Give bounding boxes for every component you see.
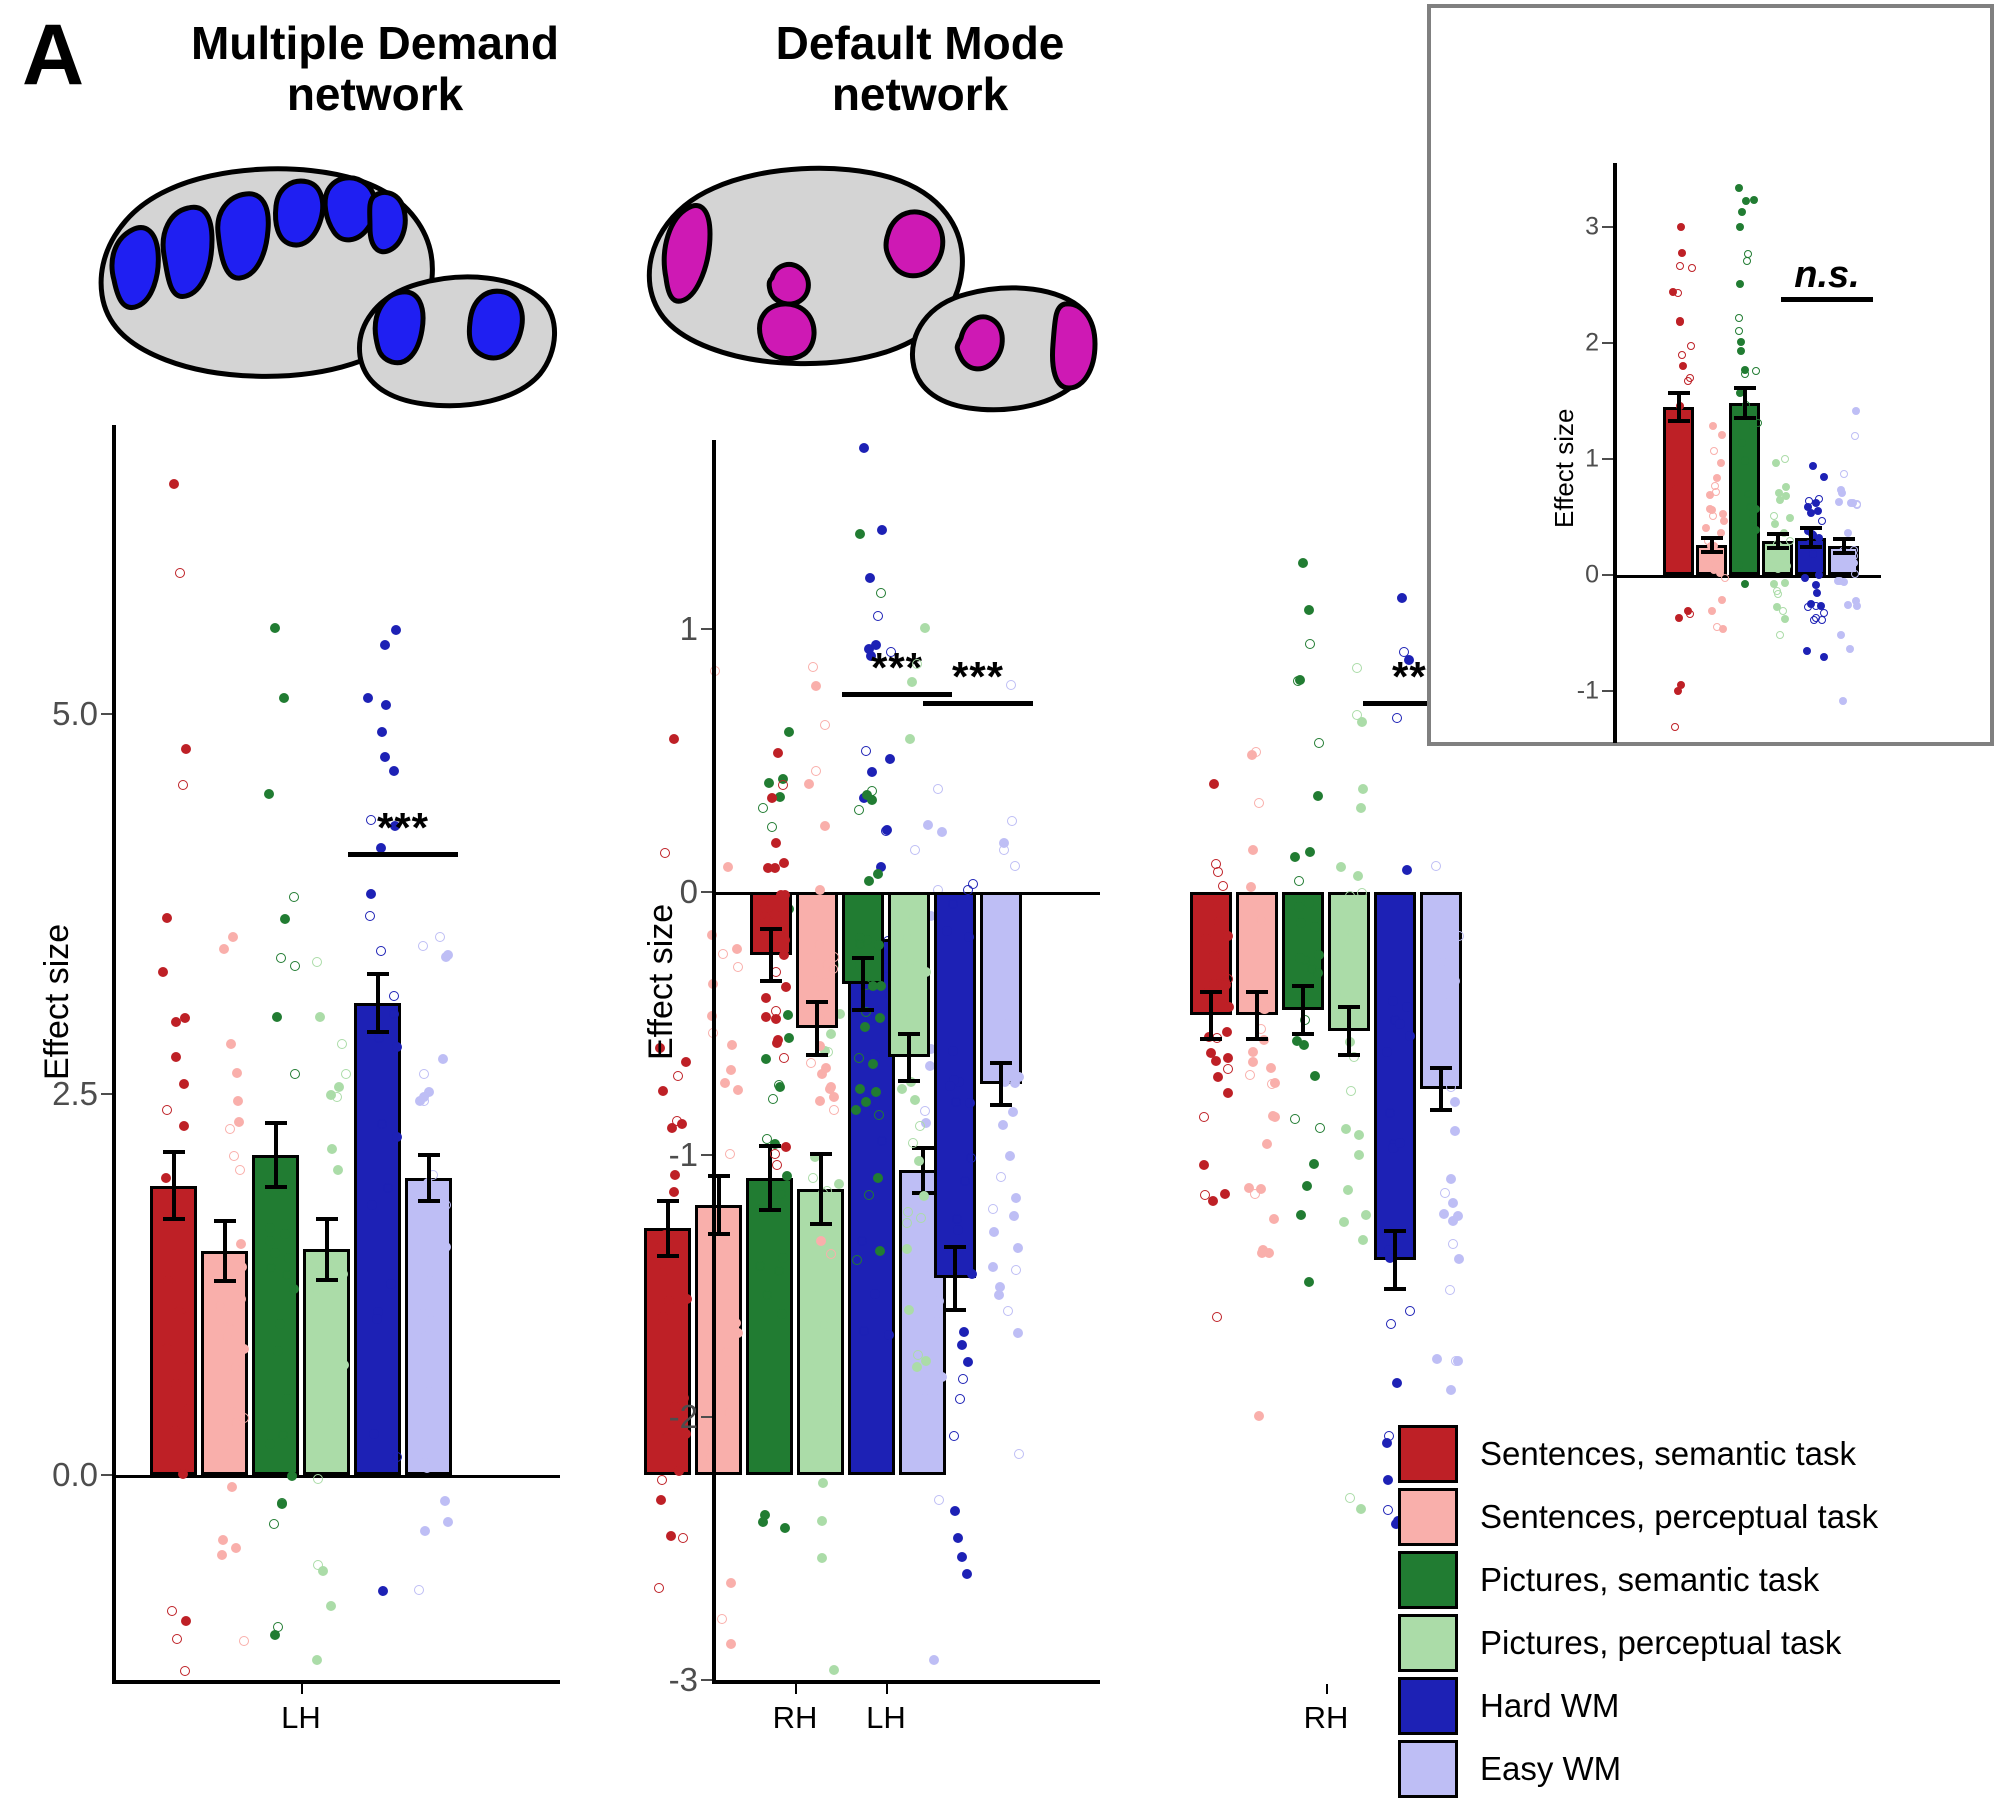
data-point xyxy=(1200,1190,1210,1200)
data-point xyxy=(332,1092,342,1102)
data-point xyxy=(1392,1378,1402,1388)
error-bar-cap xyxy=(760,979,782,983)
error-bar-cap xyxy=(944,1245,966,1249)
data-point xyxy=(290,1069,300,1079)
error-bar-cap xyxy=(1833,551,1855,555)
data-point xyxy=(855,1084,865,1094)
error-bar xyxy=(376,974,380,1032)
data-point xyxy=(1454,1254,1464,1264)
data-point xyxy=(170,1426,180,1436)
data-point xyxy=(389,1009,399,1019)
data-point xyxy=(1719,625,1727,633)
data-point xyxy=(418,941,428,951)
data-point xyxy=(219,944,229,954)
data-point xyxy=(369,1429,379,1439)
legend-item[interactable]: Sentences, semantic task xyxy=(1398,1422,1878,1485)
data-point xyxy=(1270,1078,1280,1088)
legend-item[interactable]: Easy WM xyxy=(1398,1737,1878,1800)
data-point xyxy=(1011,1265,1021,1275)
data-point xyxy=(1681,448,1689,456)
data-point xyxy=(861,1097,871,1107)
data-point xyxy=(1382,1047,1392,1057)
error-bar-cap xyxy=(990,1103,1012,1107)
legend-item-label: Sentences, semantic task xyxy=(1480,1435,1856,1473)
significance-annotation: n.s. xyxy=(1717,256,1937,302)
data-point xyxy=(389,991,399,1001)
data-point xyxy=(1395,1138,1405,1148)
data-point xyxy=(1770,512,1778,520)
error-bar-cap xyxy=(1430,1066,1452,1070)
data-point xyxy=(1844,601,1852,609)
x-tick-mark xyxy=(886,1684,888,1694)
data-point xyxy=(1446,1385,1456,1395)
data-point xyxy=(1677,223,1685,231)
significance-bracket xyxy=(923,701,1033,706)
data-point xyxy=(1851,570,1859,578)
legend-color-swatch xyxy=(1398,1677,1458,1735)
data-point xyxy=(815,885,825,895)
data-point xyxy=(1383,1475,1393,1485)
error-bar-cap xyxy=(214,1279,236,1283)
data-point xyxy=(771,1014,781,1024)
data-point xyxy=(1248,1047,1258,1057)
data-point xyxy=(1209,779,1219,789)
data-point xyxy=(1340,949,1350,959)
data-point xyxy=(1008,1107,1018,1117)
data-point xyxy=(867,795,877,805)
data-point xyxy=(1354,1130,1364,1140)
data-point xyxy=(912,1362,922,1372)
data-point xyxy=(273,1346,283,1356)
data-point xyxy=(1677,681,1685,689)
data-point xyxy=(234,1117,244,1127)
data-point xyxy=(868,1059,878,1069)
error-bar xyxy=(427,1155,431,1201)
data-point xyxy=(333,1165,343,1175)
data-point xyxy=(225,1124,235,1134)
data-point xyxy=(334,1082,344,1092)
data-point xyxy=(1809,462,1817,470)
data-point xyxy=(1718,431,1726,439)
legend-item-label: Hard WM xyxy=(1480,1687,1619,1725)
data-point xyxy=(1840,470,1848,478)
data-point xyxy=(1199,1160,1209,1170)
data-point xyxy=(270,623,280,633)
data-point xyxy=(1781,615,1789,623)
data-point xyxy=(232,1068,242,1078)
error-bar xyxy=(1393,1231,1397,1289)
y-tick-mark xyxy=(101,1474,112,1476)
data-point xyxy=(366,889,376,899)
data-point xyxy=(955,1394,965,1404)
y-tick-mark xyxy=(701,1154,712,1156)
data-point xyxy=(1774,590,1782,598)
data-point xyxy=(1218,881,1228,891)
data-point xyxy=(264,789,274,799)
error-bar-cap xyxy=(1800,545,1822,549)
data-point xyxy=(811,766,821,776)
legend-item-label: Sentences, perceptual task xyxy=(1480,1498,1878,1536)
error-bar-cap xyxy=(898,1079,920,1083)
data-point xyxy=(275,1319,285,1329)
error-bar-cap xyxy=(806,1053,828,1057)
data-point xyxy=(854,805,864,815)
data-point xyxy=(1444,895,1454,905)
data-point xyxy=(1290,852,1300,862)
data-point xyxy=(414,1355,424,1365)
data-point xyxy=(1742,197,1750,205)
data-point xyxy=(391,625,401,635)
data-point xyxy=(1844,529,1852,537)
data-point xyxy=(438,1054,448,1064)
data-point xyxy=(1223,1064,1233,1074)
data-point xyxy=(820,720,830,730)
data-point xyxy=(181,1616,191,1626)
data-point xyxy=(233,1096,243,1106)
data-point xyxy=(781,1142,791,1152)
data-point xyxy=(897,1010,907,1020)
data-point xyxy=(265,1439,275,1449)
data-point xyxy=(1702,524,1710,532)
error-bar-cap xyxy=(1384,1287,1406,1291)
data-point xyxy=(1262,1139,1272,1149)
data-point xyxy=(162,913,172,923)
data-point xyxy=(1814,507,1822,515)
data-point xyxy=(1310,1071,1320,1081)
data-point xyxy=(1336,862,1346,872)
data-point xyxy=(383,1183,393,1193)
data-point xyxy=(377,727,387,737)
data-point xyxy=(1812,614,1820,622)
error-bar xyxy=(223,1221,227,1282)
data-point xyxy=(957,1552,967,1562)
chart-semantic-frois: 3210-1Effect sizen.s. xyxy=(1431,8,1990,742)
data-point xyxy=(1009,1211,1019,1221)
data-point xyxy=(435,932,445,942)
data-point xyxy=(163,1276,173,1286)
error-bar xyxy=(1347,1007,1351,1054)
data-point xyxy=(1013,1243,1023,1253)
data-point xyxy=(181,744,191,754)
data-point xyxy=(1221,980,1231,990)
data-point xyxy=(184,1361,194,1371)
data-point xyxy=(1801,574,1809,582)
error-bar xyxy=(907,1034,911,1081)
data-point xyxy=(1405,1306,1415,1316)
data-point xyxy=(1839,697,1847,705)
data-point xyxy=(1735,184,1743,192)
data-point xyxy=(1776,631,1784,639)
error-bar xyxy=(999,1063,1003,1105)
data-point xyxy=(1677,563,1685,571)
data-point xyxy=(871,1087,881,1097)
data-point xyxy=(178,780,188,790)
data-point xyxy=(1771,520,1779,528)
data-point xyxy=(1223,1053,1233,1063)
data-point xyxy=(897,1084,907,1094)
data-point xyxy=(1337,938,1347,948)
data-point xyxy=(829,1092,839,1102)
bar xyxy=(354,1003,401,1475)
error-bar xyxy=(861,958,865,1011)
legend: Sentences, semantic taskSentences, perce… xyxy=(1398,1422,1878,1800)
data-point xyxy=(1820,473,1828,481)
data-point xyxy=(167,1606,177,1616)
data-point xyxy=(1315,1123,1325,1133)
error-bar-cap xyxy=(418,1199,440,1203)
y-tick-mark xyxy=(1602,574,1613,576)
y-tick-label: 0.0 xyxy=(12,1456,98,1494)
data-point xyxy=(829,1105,839,1115)
data-point xyxy=(327,1416,337,1426)
data-point xyxy=(960,1176,970,1186)
data-point xyxy=(1454,931,1464,941)
data-point xyxy=(312,1328,322,1338)
data-point xyxy=(162,1343,172,1353)
data-point xyxy=(1395,1019,1405,1029)
data-point xyxy=(821,1063,831,1073)
data-point xyxy=(1339,1217,1349,1227)
y-tick-label: -2 xyxy=(612,1398,698,1436)
x-tick-mark xyxy=(301,1684,303,1694)
data-point xyxy=(1678,249,1686,257)
data-point xyxy=(374,1033,384,1043)
error-bar-cap xyxy=(944,1308,966,1312)
y-tick-mark xyxy=(1602,342,1613,344)
data-point xyxy=(1007,816,1017,826)
data-point xyxy=(1688,264,1696,272)
data-point xyxy=(1257,1248,1267,1258)
data-point xyxy=(443,1517,453,1527)
error-bar-cap xyxy=(214,1219,236,1223)
data-point xyxy=(1345,960,1355,970)
error-bar-cap xyxy=(852,1008,874,1012)
y-tick-mark xyxy=(1602,458,1613,460)
data-point xyxy=(761,1012,771,1022)
data-point xyxy=(1248,1057,1258,1067)
data-point xyxy=(1432,1354,1442,1364)
data-point xyxy=(988,1016,998,1026)
data-point xyxy=(289,892,299,902)
error-bar-cap xyxy=(265,1185,287,1189)
data-point xyxy=(1304,1277,1314,1287)
data-point xyxy=(1448,1198,1458,1208)
data-point xyxy=(236,1294,246,1304)
data-point xyxy=(423,1331,433,1341)
data-point xyxy=(1212,1312,1222,1322)
data-point xyxy=(1339,988,1349,998)
data-point xyxy=(1717,459,1725,467)
data-point xyxy=(949,1431,959,1441)
legend-item[interactable]: Hard WM xyxy=(1398,1674,1878,1737)
data-point xyxy=(312,1285,322,1295)
data-point xyxy=(376,946,386,956)
data-point xyxy=(419,1069,429,1079)
data-point xyxy=(380,640,390,650)
error-bar-cap xyxy=(1701,550,1723,554)
data-point xyxy=(1686,610,1694,618)
data-point xyxy=(180,1666,190,1676)
data-point xyxy=(166,1221,176,1231)
data-point xyxy=(218,1535,228,1545)
error-bar-cap xyxy=(1800,526,1822,530)
data-point xyxy=(1222,1027,1232,1037)
x-tick-label: RH xyxy=(1304,1700,1349,1736)
data-point xyxy=(330,1358,340,1368)
data-point xyxy=(312,957,322,967)
data-point xyxy=(1296,1210,1306,1220)
data-point xyxy=(1259,1004,1269,1014)
data-point xyxy=(1446,1174,1456,1184)
legend-item[interactable]: Pictures, semantic task xyxy=(1398,1548,1878,1611)
data-point xyxy=(1010,861,1020,871)
error-bar-cap xyxy=(1668,391,1690,395)
data-point xyxy=(217,1550,227,1560)
data-point xyxy=(854,1053,864,1063)
data-point xyxy=(920,623,930,633)
data-point xyxy=(820,821,830,831)
y-axis-line xyxy=(112,425,116,1680)
data-point xyxy=(1440,1188,1450,1198)
data-point xyxy=(284,1253,294,1263)
legend-item[interactable]: Pictures, perceptual task xyxy=(1398,1611,1878,1674)
data-point xyxy=(315,1012,325,1022)
data-point xyxy=(874,940,884,950)
data-point xyxy=(1720,517,1728,525)
chart-multiple-demand: 0.02.55.0Effect sizeLHRH****** xyxy=(0,0,560,1820)
data-point xyxy=(239,1636,249,1646)
significance-label: *** xyxy=(868,656,1088,698)
data-point xyxy=(1305,847,1315,857)
bar xyxy=(201,1251,248,1475)
significance-bracket xyxy=(348,852,458,857)
significance-annotation: *** xyxy=(868,656,1088,706)
x-axis-line xyxy=(712,1680,1100,1684)
data-point xyxy=(1812,499,1820,507)
data-point xyxy=(1735,561,1743,569)
data-point xyxy=(808,662,818,672)
data-point xyxy=(1013,1328,1023,1338)
data-point xyxy=(868,981,878,991)
data-point xyxy=(179,1121,189,1131)
error-bar xyxy=(769,929,773,982)
legend-item-label: Pictures, semantic task xyxy=(1480,1561,1819,1599)
data-point xyxy=(951,1097,961,1107)
y-tick-label: -1 xyxy=(1513,676,1599,705)
data-point xyxy=(1270,1112,1280,1122)
bar xyxy=(1374,892,1416,1260)
data-point xyxy=(225,1325,235,1335)
data-point xyxy=(1674,456,1682,464)
error-bar xyxy=(1743,388,1747,418)
data-point xyxy=(1352,1009,1362,1019)
data-point xyxy=(339,1360,349,1370)
data-point xyxy=(1353,871,1363,881)
data-point xyxy=(1741,580,1749,588)
data-point xyxy=(1735,314,1743,322)
data-point xyxy=(829,952,839,962)
semantic-frois-inset-panel: 3210-1Effect sizen.s. xyxy=(1427,4,1994,746)
legend-color-swatch xyxy=(1398,1488,1458,1546)
legend-item[interactable]: Sentences, perceptual task xyxy=(1398,1485,1878,1548)
data-point xyxy=(1014,1072,1024,1082)
y-tick-label: 2.5 xyxy=(12,1075,98,1113)
data-point xyxy=(962,1569,972,1579)
data-point xyxy=(377,1119,387,1129)
data-point xyxy=(365,911,375,921)
data-point xyxy=(852,1255,862,1265)
data-point xyxy=(1679,362,1687,370)
data-point xyxy=(1009,905,1019,915)
error-bar-cap xyxy=(1833,537,1855,541)
data-point xyxy=(1782,483,1790,491)
data-point xyxy=(1361,1210,1371,1220)
data-point xyxy=(325,1379,335,1389)
data-point xyxy=(1305,639,1315,649)
y-tick-mark xyxy=(701,1679,712,1681)
error-bar-cap xyxy=(367,972,389,976)
data-point xyxy=(1678,351,1686,359)
data-point xyxy=(851,1105,861,1115)
data-point xyxy=(1710,447,1718,455)
error-bar-cap xyxy=(1292,1032,1314,1036)
error-bar xyxy=(274,1123,278,1187)
error-bar-cap xyxy=(760,927,782,931)
data-point xyxy=(1846,645,1854,653)
data-point xyxy=(1675,614,1683,622)
y-tick-label: 0 xyxy=(1513,560,1599,589)
data-point xyxy=(1358,784,1368,794)
data-point xyxy=(875,1013,885,1023)
data-point xyxy=(779,1053,789,1063)
data-point xyxy=(422,1463,432,1473)
data-point xyxy=(806,1058,816,1068)
data-point xyxy=(1838,489,1846,497)
data-point xyxy=(1254,1411,1264,1421)
data-point xyxy=(1818,517,1826,525)
error-bar xyxy=(815,1002,819,1055)
data-point xyxy=(773,1035,783,1045)
data-point xyxy=(1294,876,1304,886)
data-point xyxy=(1298,558,1308,568)
data-point xyxy=(1269,1214,1279,1224)
data-point xyxy=(1213,1072,1223,1082)
error-bar-cap xyxy=(367,1030,389,1034)
significance-label: n.s. xyxy=(1717,256,1937,294)
error-bar-cap xyxy=(1246,990,1268,994)
data-point xyxy=(174,1306,184,1316)
data-point xyxy=(1776,496,1784,504)
error-bar-cap xyxy=(1200,990,1222,994)
data-point xyxy=(270,1630,280,1640)
data-point xyxy=(1258,924,1268,934)
data-point xyxy=(1852,407,1860,415)
data-point xyxy=(855,529,865,539)
data-point xyxy=(864,876,874,886)
bar xyxy=(252,1155,299,1474)
data-point xyxy=(945,1081,955,1091)
data-point xyxy=(1307,964,1317,974)
error-bar-cap xyxy=(1734,386,1756,390)
data-point xyxy=(1750,196,1758,204)
data-point xyxy=(1011,1193,1021,1203)
error-bar-cap xyxy=(163,1217,185,1221)
y-tick-mark xyxy=(701,1416,712,1418)
y-axis-title: Effect size xyxy=(1549,409,1580,528)
data-point xyxy=(902,1244,912,1254)
data-point xyxy=(1786,537,1794,545)
data-point xyxy=(318,1566,328,1576)
